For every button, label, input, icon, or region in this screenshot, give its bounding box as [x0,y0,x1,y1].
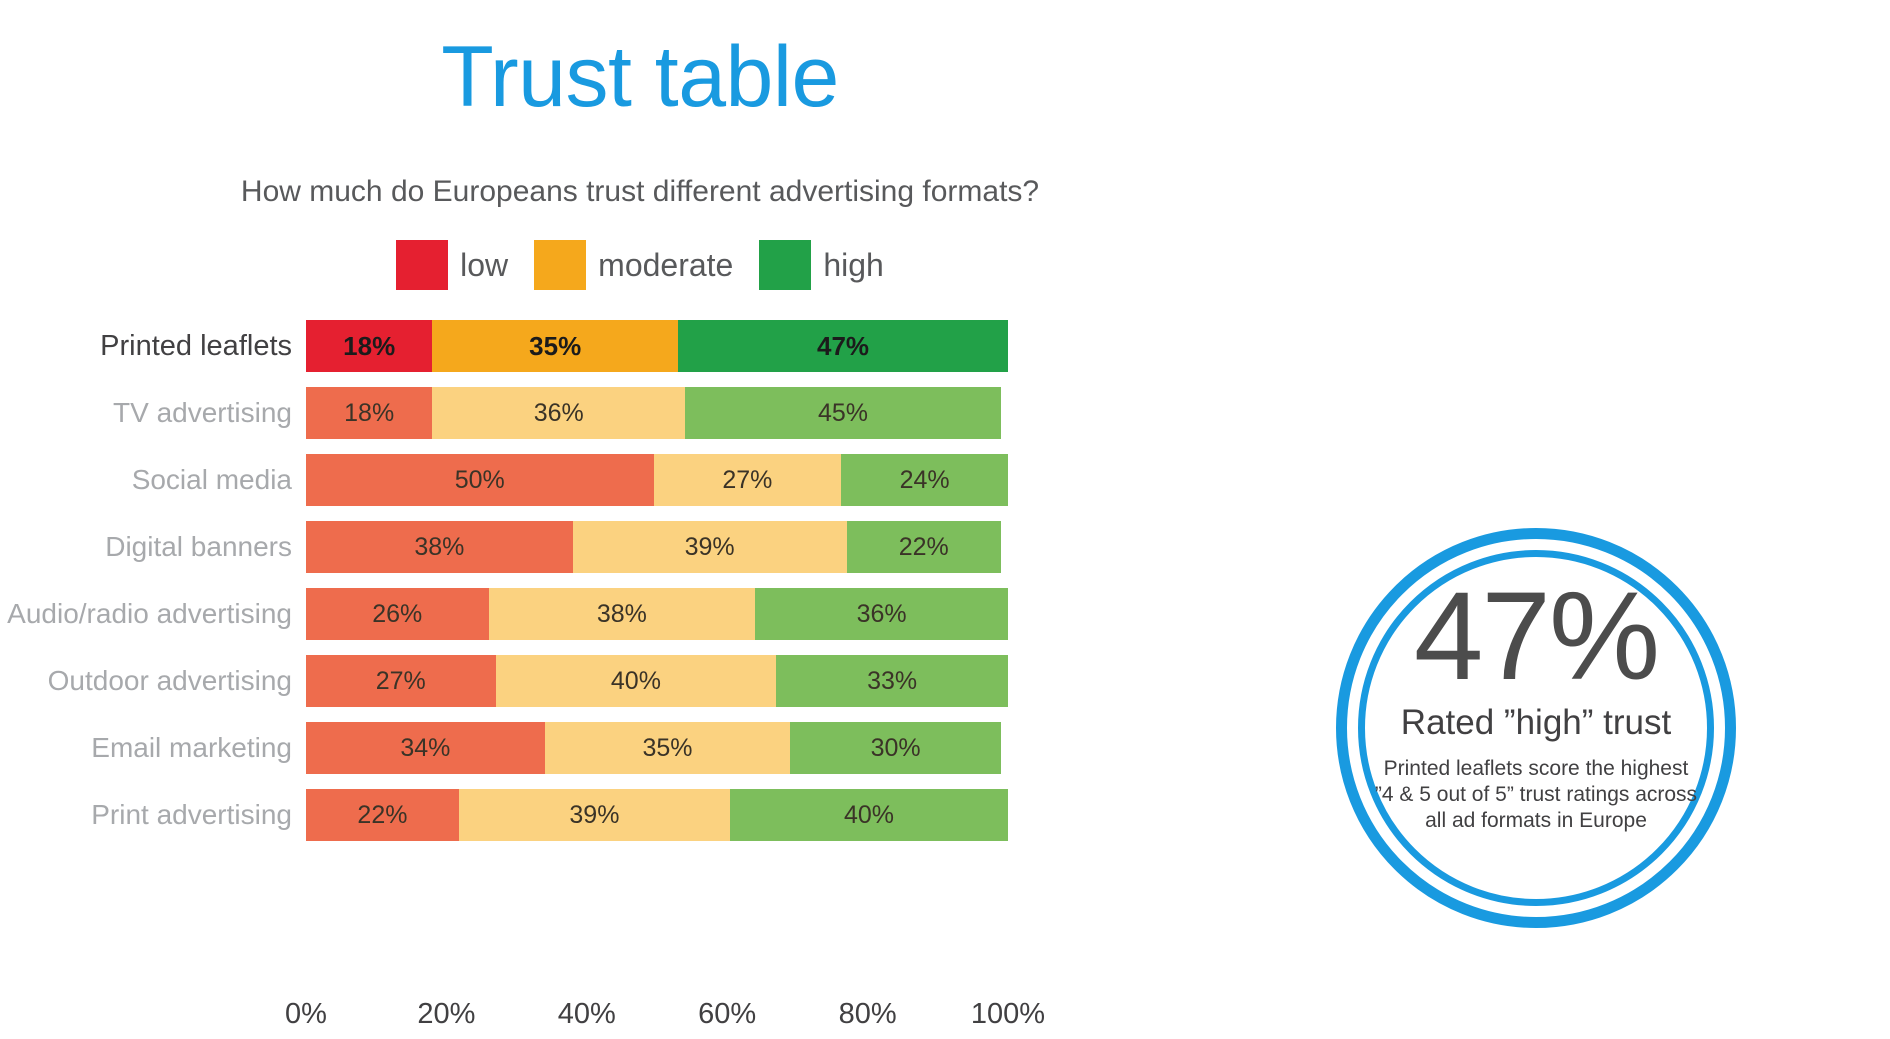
stacked-bar: 27%40%33% [306,655,1008,707]
bar-segment-value: 22% [357,801,407,830]
badge-caption: Rated ”high” trust [1401,705,1671,740]
x-axis-tick: 0% [285,1000,327,1029]
stacked-bar: 18%35%47% [306,320,1008,372]
bar-row: Social media50%27%24% [0,454,1080,506]
bar-segment-value: 36% [534,399,584,428]
stacked-bar: 34%35%30% [306,722,1008,774]
bar-segment-value: 36% [857,600,907,629]
bar-segment-value: 22% [899,533,949,562]
stacked-bar: 38%39%22% [306,521,1008,573]
bar-segment-high: 47% [678,320,1008,372]
bar-row-label: Print advertising [0,801,306,829]
bar-segment-value: 39% [569,801,619,830]
bar-segment-value: 39% [685,533,735,562]
bar-segment-low: 26% [306,588,489,640]
bar-segment-moderate: 35% [545,722,791,774]
bar-row: Printed leaflets18%35%47% [0,320,1080,372]
x-axis-tick: 20% [417,1000,475,1029]
bar-segment-high: 36% [755,588,1008,640]
bar-segment-high: 45% [685,387,1001,439]
bar-segment-value: 27% [376,667,426,696]
bar-segment-value: 50% [455,466,505,495]
bar-segment-moderate: 40% [496,655,777,707]
bar-row-label: Outdoor advertising [0,667,306,695]
legend-swatch-low [396,240,448,290]
x-axis-tick: 60% [698,1000,756,1029]
bar-segment-value: 38% [597,600,647,629]
bar-row-label: Social media [0,466,306,494]
bar-segment-value: 40% [844,801,894,830]
bar-segment-value: 24% [900,466,950,495]
bar-row: TV advertising18%36%45% [0,387,1080,439]
bar-segment-low: 18% [306,387,432,439]
bar-row-label: TV advertising [0,399,306,427]
legend-label-high: high [823,249,884,281]
bar-segment-value: 47% [817,331,869,362]
badge-description-line: all ad formats in Europe [1375,808,1697,834]
bar-segment-value: 26% [372,600,422,629]
page-title: Trust table [0,34,1280,120]
bar-segment-low: 18% [306,320,432,372]
bar-row: Outdoor advertising27%40%33% [0,655,1080,707]
badge-description: Printed leaflets score the highest”4 & 5… [1375,756,1697,835]
bar-segment-low: 27% [306,655,496,707]
bar-row: Print advertising22%39%40% [0,789,1080,841]
bar-segment-moderate: 39% [573,521,847,573]
bar-segment-high: 30% [790,722,1001,774]
bar-row: Audio/radio advertising26%38%36% [0,588,1080,640]
badge-stat-value: 47% [1414,578,1658,697]
bar-segment-low: 38% [306,521,573,573]
stacked-bar-chart: Printed leaflets18%35%47%TV advertising1… [0,315,1080,1015]
bar-row-label: Audio/radio advertising [0,600,306,628]
bar-row-label: Printed leaflets [0,332,306,361]
bar-segment-low: 22% [306,789,459,841]
chart-subtitle: How much do Europeans trust different ad… [0,175,1280,209]
legend-swatch-moderate [534,240,586,290]
legend-label-low: low [460,249,508,281]
bar-row: Digital banners38%39%22% [0,521,1080,573]
bar-segment-value: 40% [611,667,661,696]
legend-item-high: high [759,240,884,290]
stacked-bar: 18%36%45% [306,387,1008,439]
bar-segment-low: 34% [306,722,545,774]
bar-segment-value: 18% [343,331,395,362]
bar-segment-moderate: 38% [489,588,756,640]
legend-swatch-high [759,240,811,290]
bar-row-label: Email marketing [0,734,306,762]
stacked-bar: 22%39%40% [306,789,1008,841]
legend-item-low: low [396,240,508,290]
bar-segment-high: 22% [847,521,1001,573]
bar-segment-value: 45% [818,399,868,428]
chart-legend: lowmoderatehigh [0,240,1280,290]
bar-segment-value: 27% [722,466,772,495]
bar-segment-moderate: 27% [654,454,842,506]
bar-segment-low: 50% [306,454,654,506]
bar-segment-value: 35% [642,734,692,763]
stacked-bar: 50%27%24% [306,454,1008,506]
bar-segment-high: 33% [776,655,1008,707]
bar-segment-value: 18% [344,399,394,428]
bar-segment-high: 24% [841,454,1008,506]
x-axis-tick: 40% [558,1000,616,1029]
badge-content: 47% Rated ”high” trust Printed leaflets … [1336,528,1736,928]
bar-row-label: Digital banners [0,533,306,561]
bar-segment-moderate: 39% [459,789,730,841]
bar-segment-value: 34% [400,734,450,763]
bar-segment-moderate: 36% [432,387,685,439]
bar-segment-value: 38% [414,533,464,562]
legend-item-moderate: moderate [534,240,733,290]
bar-row: Email marketing34%35%30% [0,722,1080,774]
x-axis: 0%20%40%60%80%100% [306,1000,1008,1038]
bar-segment-moderate: 35% [432,320,678,372]
x-axis-tick: 100% [971,1000,1045,1029]
badge-description-line: ”4 & 5 out of 5” trust ratings across [1375,782,1697,808]
legend-label-moderate: moderate [598,249,733,281]
stacked-bar: 26%38%36% [306,588,1008,640]
bar-segment-high: 40% [730,789,1008,841]
highlight-badge: 47% Rated ”high” trust Printed leaflets … [1336,528,1736,928]
x-axis-tick: 80% [839,1000,897,1029]
bar-segment-value: 33% [867,667,917,696]
bar-segment-value: 35% [529,331,581,362]
bar-segment-value: 30% [871,734,921,763]
badge-description-line: Printed leaflets score the highest [1375,756,1697,782]
